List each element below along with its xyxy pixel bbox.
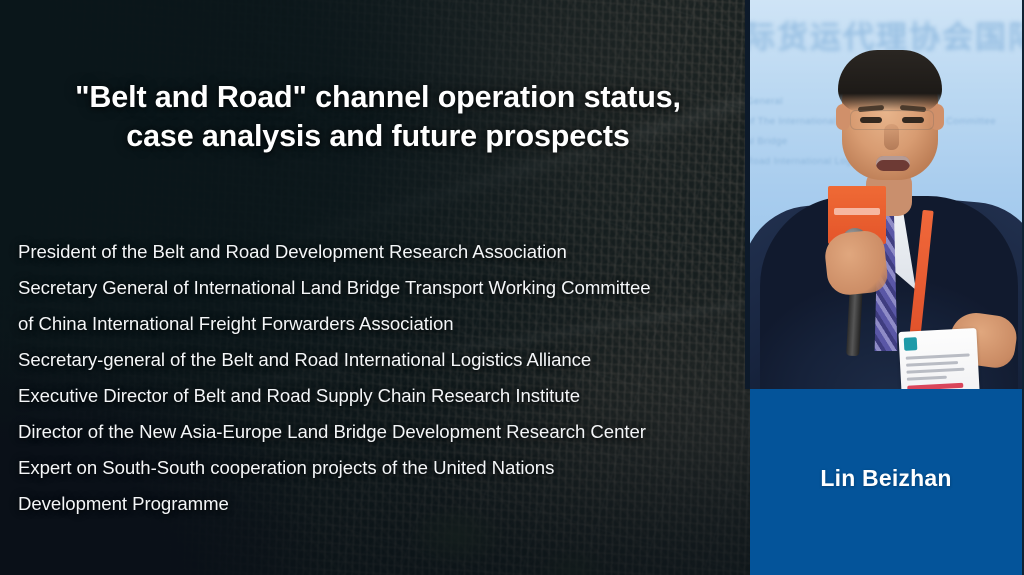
credential-line: President of the Belt and Road Developme… — [18, 234, 744, 270]
speaker-photo: 际货运代理协会国际陆桥 General of The International… — [750, 0, 1022, 389]
seated-speaker-figure — [750, 0, 1022, 389]
presentation-slide: "Belt and Road" channel operation status… — [0, 0, 1024, 575]
badge-text-line — [907, 376, 947, 381]
nose — [884, 124, 899, 150]
badge-text-line — [906, 361, 958, 367]
name-badge — [898, 328, 979, 389]
credential-line: Secretary General of International Land … — [18, 270, 744, 306]
hair — [838, 50, 942, 112]
speaker-name: Lin Beizhan — [820, 465, 951, 492]
mouth — [876, 156, 910, 171]
badge-text-line — [906, 353, 970, 359]
speaker-panel: 际货运代理协会国际陆桥 General of The International… — [750, 0, 1022, 575]
badge-logo-icon — [904, 337, 918, 351]
badge-text-line — [906, 368, 964, 374]
credential-line: Secretary-general of the Belt and Road I… — [18, 342, 744, 378]
slide-title: "Belt and Road" channel operation status… — [14, 78, 742, 156]
credential-line: Development Programme — [18, 486, 744, 522]
credential-line: Director of the New Asia-Europe Land Bri… — [18, 414, 744, 450]
hand-holding-microphone — [823, 229, 889, 297]
credential-line: Expert on South-South cooperation projec… — [18, 450, 744, 486]
speaker-name-plate: Lin Beizhan — [750, 389, 1022, 575]
credential-line: of China International Freight Forwarder… — [18, 306, 744, 342]
credential-line: Executive Director of Belt and Road Supp… — [18, 378, 744, 414]
speaker-credentials-list: President of the Belt and Road Developme… — [18, 234, 744, 522]
text-content-area: "Belt and Road" channel operation status… — [0, 0, 750, 575]
